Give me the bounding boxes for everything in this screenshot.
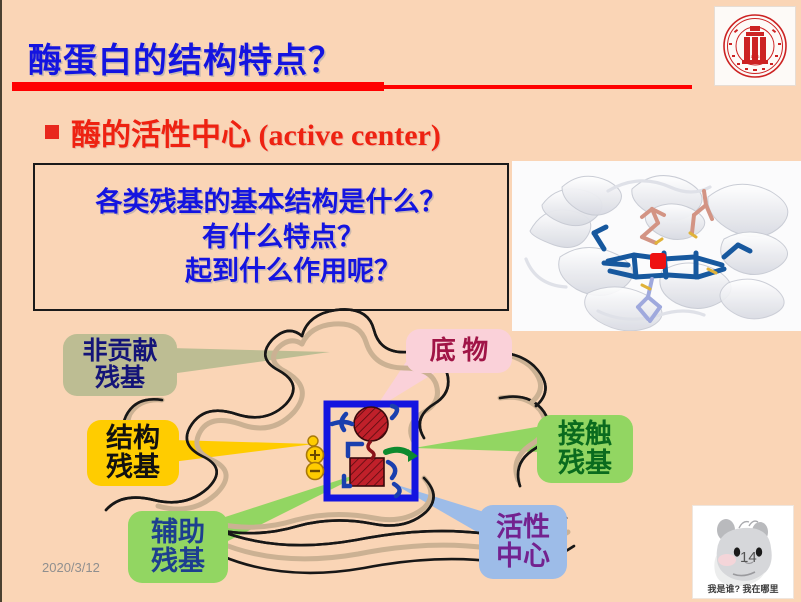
substrate-body: [350, 458, 384, 486]
label-line: 残基: [558, 449, 612, 478]
date-stamp: 2020/3/12: [42, 560, 100, 575]
label-assisting-residue[interactable]: 辅助 残基: [128, 511, 228, 583]
label-line: 残基: [106, 453, 160, 482]
label-line: 活性: [496, 513, 550, 542]
label-line: 底 物: [430, 337, 489, 365]
substrate-head: [354, 407, 388, 441]
label-non-contributing-residue[interactable]: 非贡献 残基: [63, 334, 177, 396]
charge-residues: [307, 436, 324, 480]
label-line: 结构: [106, 424, 160, 453]
label-line: 非贡献: [82, 338, 157, 365]
label-line: 残基: [151, 547, 205, 576]
slide-canvas: 酶蛋白的结构特点？ 1896: [0, 0, 801, 602]
substrate-link: [368, 441, 374, 459]
label-line: 中心: [496, 542, 550, 571]
label-structural-residue[interactable]: 结构 残基: [87, 420, 179, 486]
label-line: 残基: [95, 365, 145, 392]
label-substrate[interactable]: 底 物: [406, 329, 512, 373]
label-line: 辅助: [151, 518, 205, 547]
label-active-center[interactable]: 活性 中心: [479, 505, 567, 579]
polypeptide-chain-diagram: [2, 0, 801, 602]
label-contact-residue[interactable]: 接触 残基: [537, 415, 633, 483]
meme-caption: 我是谁? 我在哪里: [693, 582, 793, 595]
page-number: 14: [740, 549, 757, 566]
label-line: 接触: [558, 420, 612, 449]
